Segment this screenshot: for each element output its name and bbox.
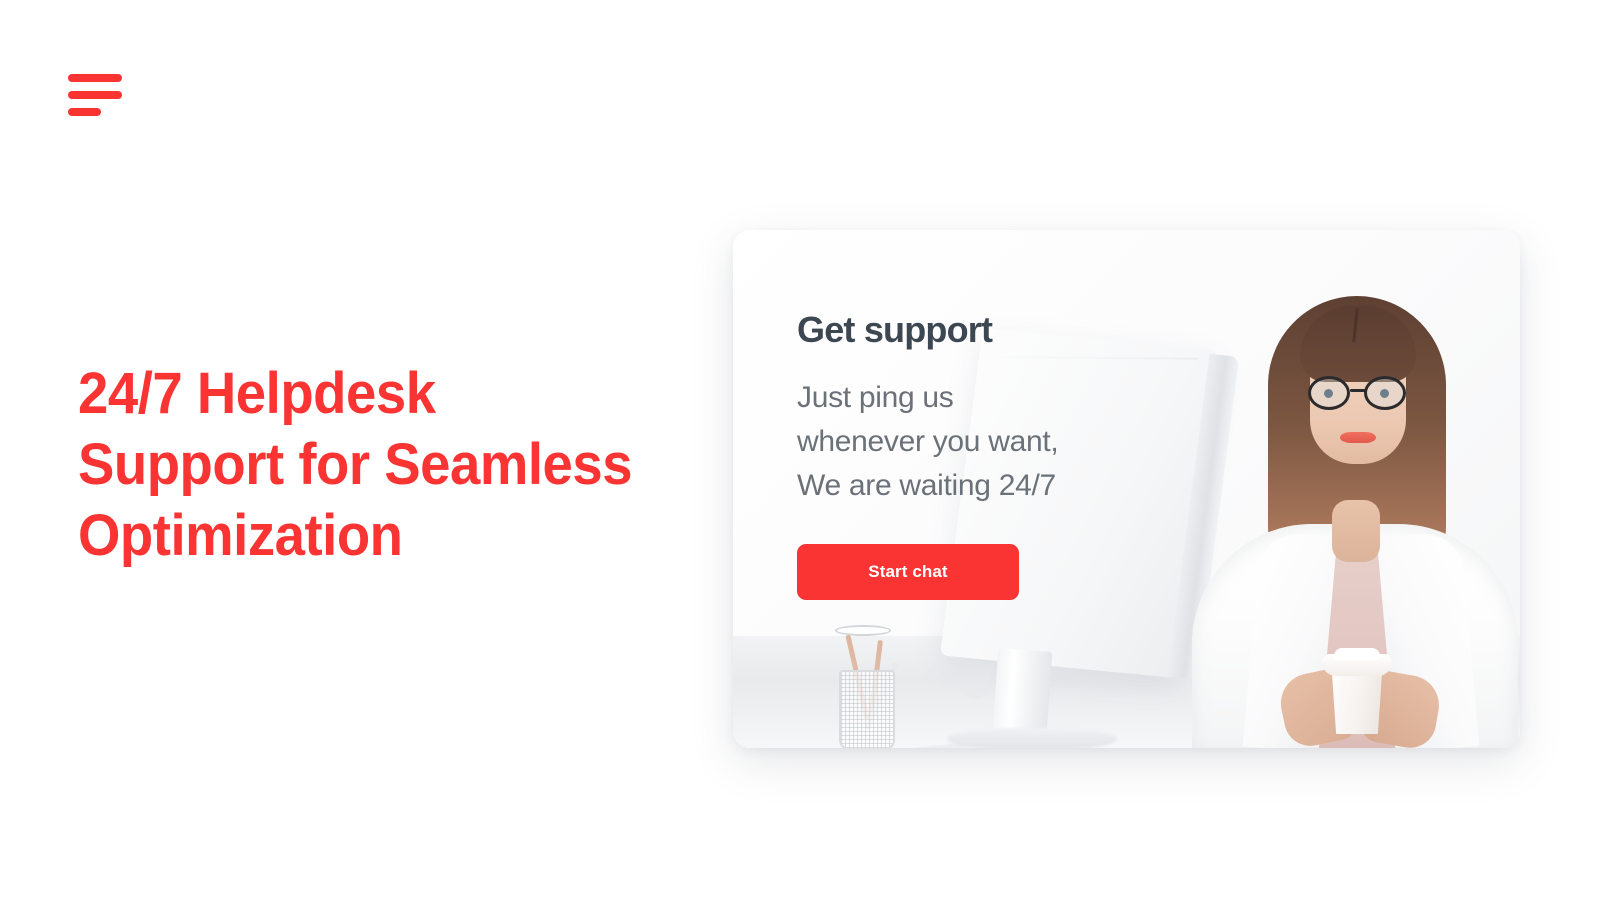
mesh-cup: [839, 670, 895, 748]
support-card-body-line-1: Just ping us: [797, 376, 1197, 420]
eye-right: [1380, 389, 1389, 398]
support-card-title: Get support: [797, 309, 1197, 351]
start-chat-button[interactable]: Start chat: [797, 544, 1019, 600]
neck: [1332, 500, 1380, 562]
headline-line-1: 24/7 Helpdesk: [78, 358, 698, 429]
support-card: Get support Just ping us whenever you wa…: [733, 230, 1520, 748]
hero-headline: 24/7 Helpdesk Support for Seamless Optim…: [78, 358, 698, 571]
eye-left: [1324, 389, 1333, 398]
menu-bar-bottom: [68, 108, 101, 116]
support-card-content: Get support Just ping us whenever you wa…: [797, 309, 1197, 600]
headline-line-2: Support for Seamless: [78, 429, 698, 500]
hamburger-menu-icon[interactable]: [68, 74, 126, 116]
headline-line-3: Optimization: [78, 500, 698, 571]
mesh-cup-rim: [835, 625, 891, 636]
coffee-cup-body: [1328, 666, 1386, 734]
menu-bar-middle: [68, 91, 122, 99]
landing-page: 24/7 Helpdesk Support for Seamless Optim…: [0, 0, 1600, 900]
monitor-stand-foot: [947, 728, 1117, 748]
lips: [1340, 432, 1376, 443]
coffee-cup-lid-top: [1334, 648, 1380, 660]
coffee-cup-icon: [1322, 648, 1392, 734]
pencil-holder-icon: [833, 630, 897, 748]
support-card-body-line-3: We are waiting 24/7: [797, 464, 1197, 508]
glasses-icon: [1306, 376, 1410, 410]
glasses-bridge: [1350, 389, 1366, 392]
menu-bar-top: [68, 74, 122, 82]
support-card-body: Just ping us whenever you want, We are w…: [797, 376, 1197, 508]
support-agent-photo: [1190, 272, 1520, 748]
support-card-body-line-2: whenever you want,: [797, 420, 1197, 464]
